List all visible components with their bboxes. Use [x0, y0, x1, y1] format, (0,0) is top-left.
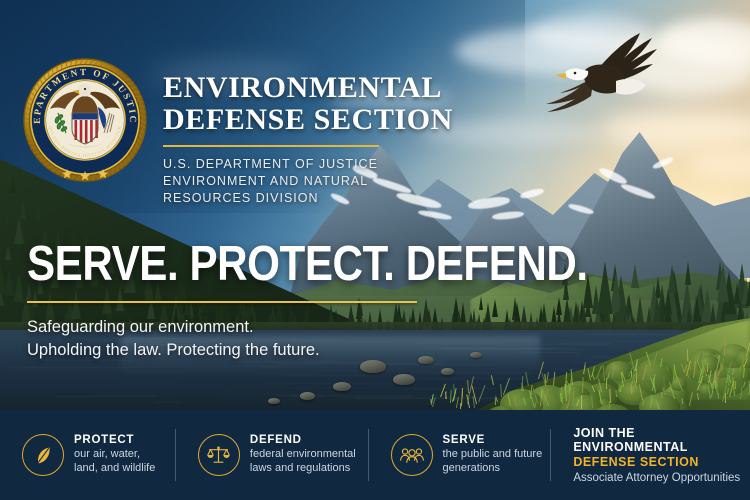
masthead-subtitle-line-1: U.S. DEPARTMENT OF JUSTICE — [163, 156, 583, 173]
pillar-serve-title: SERVE — [443, 434, 543, 446]
cta-join[interactable]: JOIN THE ENVIRONMENTAL DEFENSE SECTION A… — [551, 427, 750, 483]
masthead-title-line-2: DEFENSE SECTION — [163, 104, 583, 136]
pillar-serve-desc-2: generations — [443, 462, 543, 476]
pillar-protect-desc-1: our air, water, — [74, 448, 155, 462]
bottom-bar: PROTECT our air, water, land, and wildli… — [0, 410, 750, 500]
hero-text-block: SERVE. PROTECT. DEFEND. Safeguarding our… — [27, 240, 727, 363]
pillar-protect[interactable]: PROTECT our air, water, land, and wildli… — [0, 427, 175, 483]
cta-line-1: JOIN THE ENVIRONMENTAL — [573, 426, 750, 454]
pillar-serve-desc-1: the public and future — [443, 448, 543, 462]
pillar-defend-text: DEFEND federal environmental laws and re… — [250, 434, 356, 476]
pillar-defend[interactable]: DEFEND federal environmental laws and re… — [176, 427, 368, 483]
pillar-defend-desc-2: laws and regulations — [250, 462, 356, 476]
pillar-serve-text: SERVE the public and future generations — [443, 434, 543, 476]
masthead-gold-rule — [163, 145, 379, 147]
pillar-defend-desc-1: federal environmental — [250, 448, 356, 462]
pillar-protect-text: PROTECT our air, water, land, and wildli… — [74, 434, 155, 476]
pillar-protect-desc-2: land, and wildlife — [74, 462, 155, 476]
leaf-icon — [22, 434, 64, 476]
edsection-banner: DEPARTMENT OF JUSTICE QUI PRO DOMINA JUS… — [0, 0, 750, 500]
cta-line-2: DEFENSE SECTION — [573, 455, 750, 469]
hero-headline: SERVE. PROTECT. DEFEND. — [27, 240, 629, 289]
masthead: ENVIRONMENTAL DEFENSE SECTION U.S. DEPAR… — [163, 72, 583, 207]
pillar-serve[interactable]: SERVE the public and future generations — [369, 427, 551, 483]
hero-gold-rule — [27, 301, 417, 303]
doj-seal-icon: DEPARTMENT OF JUSTICE QUI PRO DOMINA JUS… — [22, 57, 148, 183]
scales-icon — [198, 434, 240, 476]
people-icon — [391, 434, 433, 476]
masthead-title-line-1: ENVIRONMENTAL — [163, 72, 583, 104]
pillar-defend-title: DEFEND — [250, 434, 356, 446]
hero-tagline-line-1: Safeguarding our environment. — [27, 316, 727, 339]
masthead-subtitle-line-2: ENVIRONMENT AND NATURAL — [163, 173, 583, 190]
pillar-protect-title: PROTECT — [74, 434, 155, 446]
cta-line-3: Associate Attorney Opportunities — [573, 472, 750, 484]
hero-tagline-line-2: Upholding the law. Protecting the future… — [27, 339, 727, 362]
masthead-subtitle-line-3: RESOURCES DIVISION — [163, 190, 583, 207]
